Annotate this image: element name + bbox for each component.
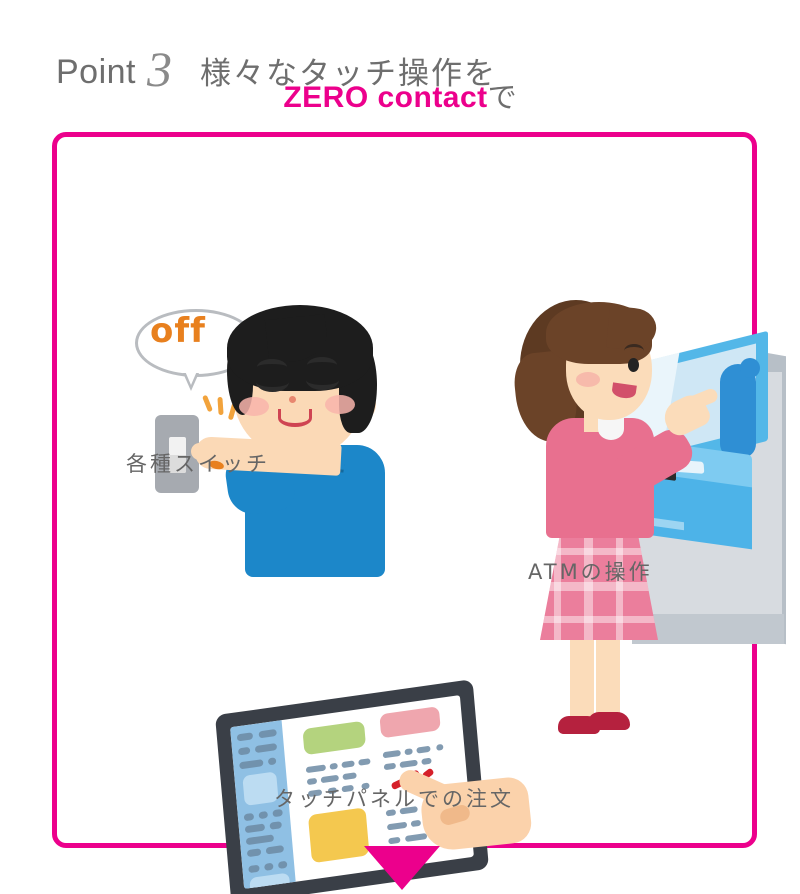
woman-leg-right [596,632,620,722]
atm-handset-top [740,358,760,378]
caption-touch-panel: タッチパネルでの注文 [274,783,514,813]
woman-collar [598,418,624,440]
man-cheek-right [325,395,355,414]
man-eye-right [306,370,339,390]
tablet-block-green [302,721,366,756]
content-frame: off [52,132,757,848]
scroll-down-arrow-icon [364,846,440,890]
woman-eye [628,358,639,372]
zero-contact-highlight: ZERO contact [283,81,487,114]
caption-atm: ATMの操作 [528,556,653,586]
illustration-atm-woman [512,292,800,682]
speech-bubble-text: off [117,297,239,365]
man-eye-left [256,372,289,392]
illustration-switch-man: off [117,297,437,577]
tablet-block-yellow [308,807,370,863]
man-nose [289,396,296,403]
spark-line-2-icon [217,397,223,415]
man-mouth [278,409,312,427]
speech-bubble-tail-inner [185,371,197,385]
tablet-block-pink [379,706,441,738]
man-cheek-left [239,397,269,416]
page-header: Point 3 様々なタッチ操作を ZERO contactで [0,0,800,122]
caption-switch: 各種スイッチ [126,448,270,478]
header-line-1: Point 3 様々なタッチ操作を [0,22,800,74]
woman-leg-left [570,634,594,724]
header-suffix-de: で [488,80,517,114]
page-root: Point 3 様々なタッチ操作を ZERO contactで off [0,0,800,894]
atm-handset [720,364,756,458]
woman-cheek [576,372,600,387]
header-line-2: ZERO contactで [0,74,800,116]
woman-eyebrow [624,344,644,351]
woman-shoe-right [588,712,630,730]
spark-line-1-icon [202,395,213,413]
